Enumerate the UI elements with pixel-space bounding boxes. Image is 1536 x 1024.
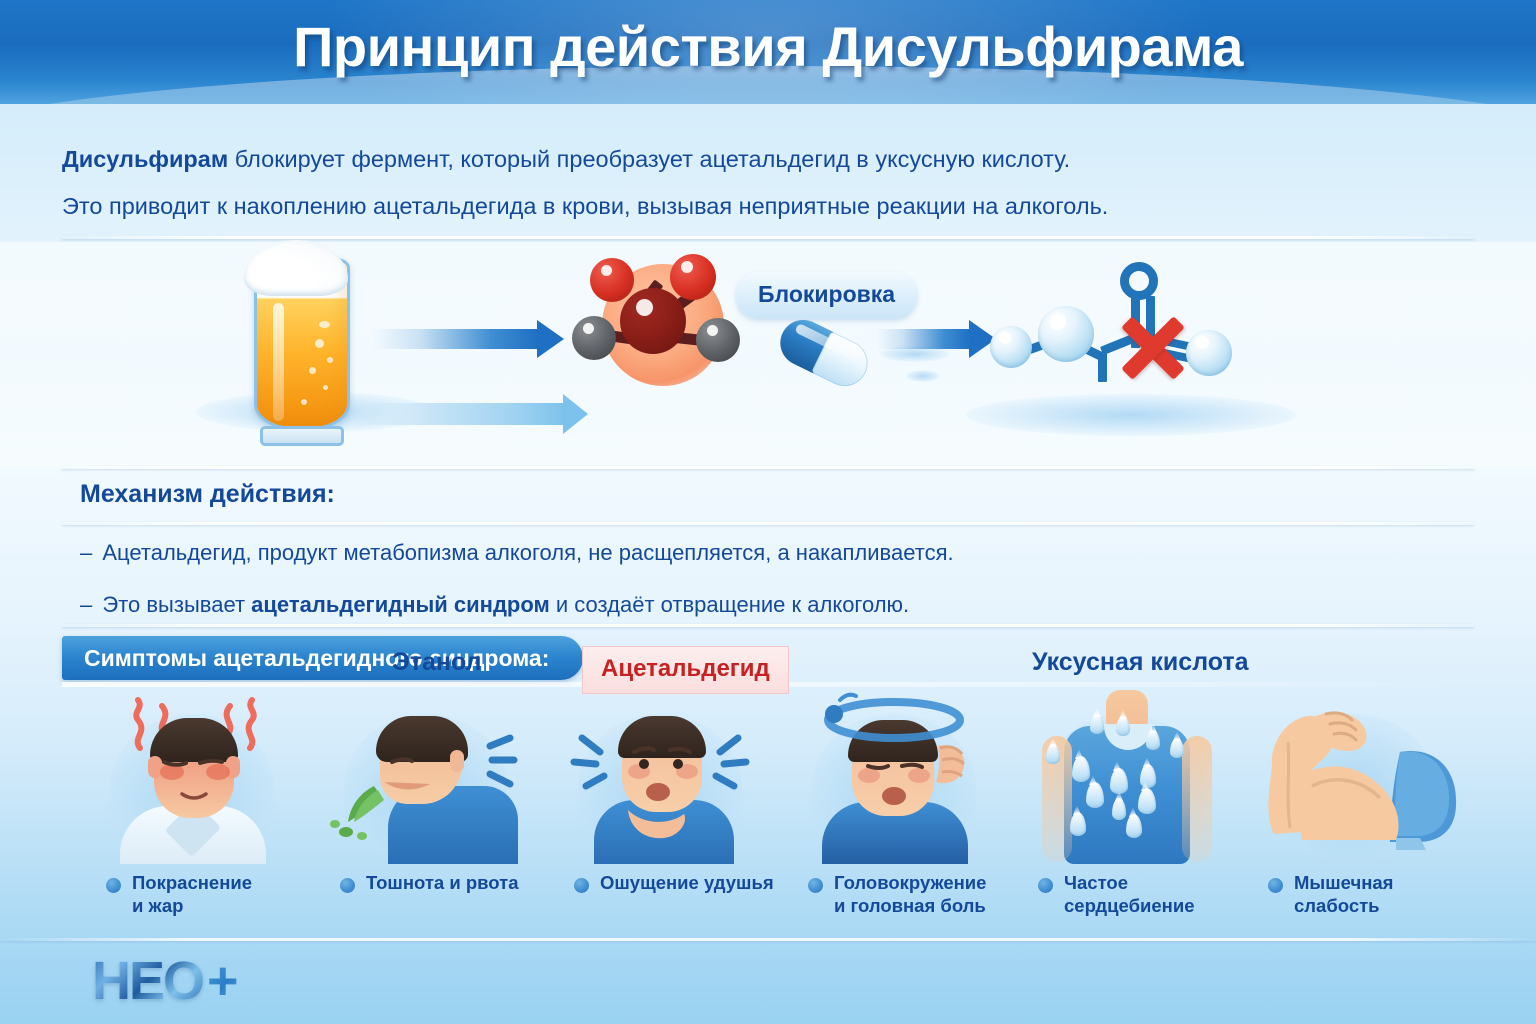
mechanism-item-2-strong: ацетальдегидный синдром (251, 592, 550, 617)
symptom-card-vomiting[interactable]: Тошнота и рвота (322, 690, 532, 952)
logo-text: НЕО (92, 950, 203, 1012)
acetaldehyde-molecule-icon (572, 254, 772, 394)
intro-line-1-rest: блокирует фермент, который преобразует а… (228, 146, 1070, 172)
mechanism-item-2-pre: Это вызывает (102, 592, 251, 617)
process-diagram: Блокировка Э (0, 242, 1536, 468)
label-ethanol: Этанол (392, 648, 482, 677)
arrow-ethanol-label-bar (350, 394, 588, 434)
puddle-right (966, 394, 1296, 436)
divider-symptoms (62, 624, 1474, 627)
arrow-ethanol-to-acetaldehyde (372, 320, 564, 358)
symptom-label-2: Тошнота и рвота (366, 872, 546, 895)
intro-drug-name: Дисульфирам (62, 146, 228, 172)
symptoms-banner: Симптомы ацетальдегидного синдрома: (62, 636, 583, 680)
blockade-badge: Блокировка (736, 272, 917, 319)
intro-text-block: Дисульфирам блокирует фермент, который п… (62, 148, 1482, 241)
acetic-acid-molecule-icon (990, 262, 1280, 392)
mechanism-item-1: – Ацетальдегид, продукт метабопизма алко… (80, 540, 1460, 566)
mechanism-item-2-post: и создаёт отвращение к алкоголю. (550, 592, 909, 617)
symptom-label-6: Мышечная слабость (1294, 872, 1474, 917)
symptom-card-choking[interactable]: Ошущение удушья (556, 690, 766, 952)
infographic-poster: Принцип действия Дисульфирама Дисульфира… (0, 0, 1536, 1024)
divider-footer (0, 938, 1536, 941)
intro-line-2: Это приводит к накоплению ацетальдегида … (62, 195, 1482, 219)
label-acetaldehyde: Ацетальдегид (582, 646, 789, 694)
blocked-x-icon (1116, 310, 1190, 384)
vomiting-person-icon (322, 690, 532, 860)
symptom-label-4: Головокружение и головная боль (834, 872, 1014, 917)
symptom-label-5: Частое сердцебиение (1064, 872, 1244, 917)
divider-process (62, 466, 1474, 469)
arrow-to-acetic-acid (876, 320, 996, 358)
bullet-icon-1 (106, 878, 121, 893)
symptom-card-palpitations[interactable]: Частое сердцебиение (1020, 690, 1230, 952)
flexed-arm-icon (1250, 690, 1460, 860)
bullet-icon-6 (1268, 878, 1283, 893)
dash-2: – (80, 592, 92, 617)
dash-1: – (80, 540, 92, 565)
symptom-label-1: Покраснение и жар (132, 872, 312, 917)
mechanism-item-1-text: Ацетальдегид, продукт метабопизма алкого… (102, 540, 953, 565)
bullet-icon-3 (574, 878, 589, 893)
bullet-icon-4 (808, 878, 823, 893)
mechanism-item-2: – Это вызывает ацетальдегидный синдром и… (80, 592, 1460, 618)
logo-plus-icon: + (207, 950, 239, 1012)
label-acetic-acid: Уксусная кислота (1032, 648, 1249, 677)
divider-mechanism (62, 522, 1474, 525)
poster-header: Принцип действия Дисульфирама (0, 0, 1536, 104)
intro-line-1: Дисульфирам блокирует фермент, который п… (62, 148, 1482, 172)
sweating-torso-icon (1020, 690, 1230, 860)
mechanism-list: – Ацетальдегид, продукт метабопизма алко… (80, 540, 1460, 644)
pill-capsule-icon (773, 312, 876, 394)
page-title: Принцип действия Дисульфирама (0, 0, 1536, 79)
bullet-icon-2 (340, 878, 355, 893)
brand-logo: НЕО + (92, 950, 239, 1012)
flushed-face-icon (88, 690, 298, 860)
dizzy-person-icon (790, 690, 1000, 860)
divider-intro (62, 236, 1474, 239)
symptom-card-weakness[interactable]: Мышечная слабость (1250, 690, 1460, 952)
puddle-small-b (906, 370, 940, 382)
bullet-icon-5 (1038, 878, 1053, 893)
symptoms-strip: Покраснение и жар (0, 690, 1536, 952)
beer-glass-icon (248, 252, 356, 444)
symptom-card-dizzy[interactable]: Головокружение и головная боль (790, 690, 1000, 952)
symptom-label-3: Ошущение удушья (600, 872, 780, 895)
mechanism-heading: Механизм действия: (80, 480, 335, 509)
symptom-card-flushed[interactable]: Покраснение и жар (88, 690, 298, 952)
choking-person-icon (556, 690, 766, 860)
